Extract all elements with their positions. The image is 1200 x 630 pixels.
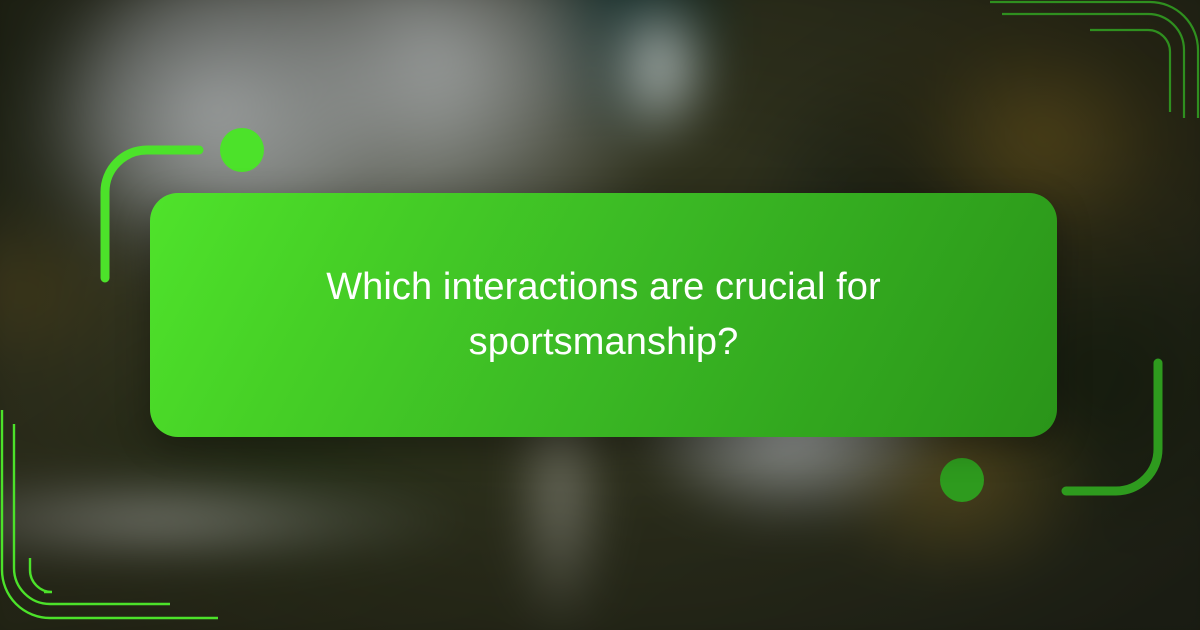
accent-dot-bottom bbox=[940, 458, 984, 502]
question-title: Which interactions are crucial for sport… bbox=[284, 260, 924, 370]
question-card: Which interactions are crucial for sport… bbox=[150, 193, 1057, 437]
accent-dot-top bbox=[220, 128, 264, 172]
poster-canvas: Which interactions are crucial for sport… bbox=[0, 0, 1200, 630]
